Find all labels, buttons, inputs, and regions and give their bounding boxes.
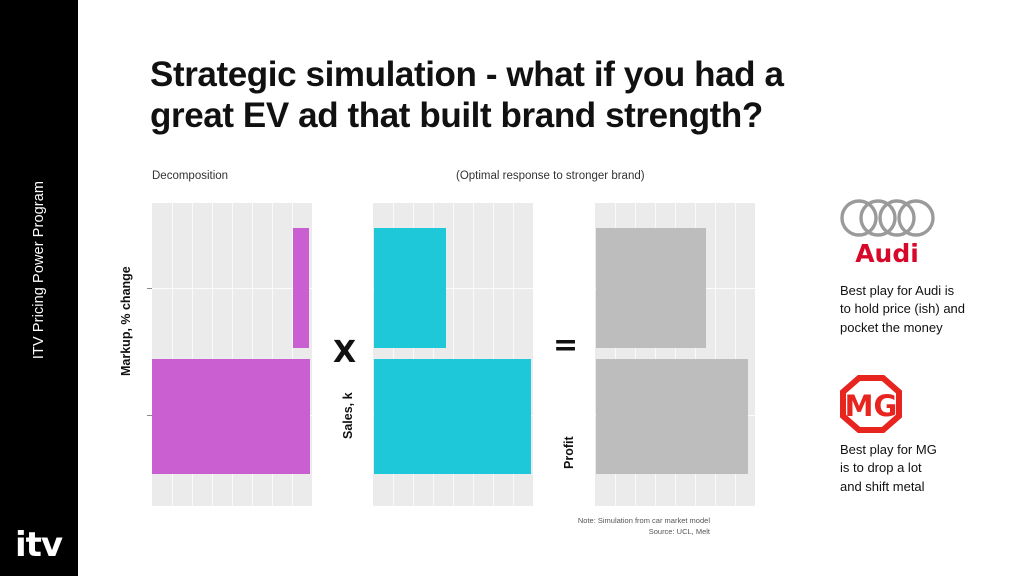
mg-text-line-3: and shift metal [840,478,1024,496]
chart-panel-profit [595,203,755,506]
title-line-2: great EV ad that built brand strength? [150,96,910,137]
source-note: Note: Simulation from car market model S… [520,516,710,538]
chart-panel-sales [373,203,533,506]
note-line-2: Source: UCL, Melt [520,527,710,538]
mg-wordmark: MG [845,389,898,423]
axis-label-profit: Profit [562,436,576,469]
bar-sales-audi[interactable] [374,228,446,348]
sidebar-rail: ITV Pricing Power Program itv [0,0,78,576]
page-title: Strategic simulation - what if you had a… [150,55,910,137]
mg-logo-svg: MG [840,375,902,433]
mg-text-line-1: Best play for MG [840,441,1024,459]
brand-text-audi: Best play for Audi is to hold price (ish… [840,282,1024,337]
audi-logo: Audi [840,196,1024,274]
bar-sales-mg[interactable] [374,359,531,474]
title-line-1: Strategic simulation - what if you had a [150,55,910,96]
bar-profit-mg[interactable] [596,359,748,474]
mg-logo: MG [840,375,1024,433]
mg-text-line-2: is to drop a lot [840,459,1024,477]
bar-markup-audi[interactable] [293,228,309,348]
audi-wordmark: Audi [855,239,919,268]
bar-markup-mg[interactable] [152,359,310,474]
gridline-h [152,288,312,289]
axis-label-markup: Markup, % change [119,266,133,376]
brand-text-mg: Best play for MG is to drop a lot and sh… [840,441,1024,496]
audi-logo-svg: Audi [840,196,954,270]
chart-panel-markup [152,203,312,506]
audi-text-line-1: Best play for Audi is [840,282,1024,300]
operator-multiply: X [333,335,356,370]
brand-block-audi: Audi Best play for Audi is to hold price… [840,196,1024,337]
audi-text-line-3: pocket the money [840,319,1024,337]
itv-logo: itv [15,528,62,562]
caption-decomposition: Decomposition [152,170,228,182]
axis-tick [147,288,152,289]
audi-text-line-2: to hold price (ish) and [840,300,1024,318]
bar-profit-audi[interactable] [596,228,706,348]
note-line-1: Note: Simulation from car market model [520,516,710,527]
caption-optimal-response: (Optimal response to stronger brand) [456,170,645,182]
brand-block-mg: MG Best play for MG is to drop a lot and… [840,375,1024,496]
axis-label-sales: Sales, k [341,392,355,439]
axis-tick [147,415,152,416]
program-label: ITV Pricing Power Program [31,145,47,395]
slide-root: ITV Pricing Power Program itv Strategic … [0,0,1024,576]
operator-equals: = [553,328,578,363]
